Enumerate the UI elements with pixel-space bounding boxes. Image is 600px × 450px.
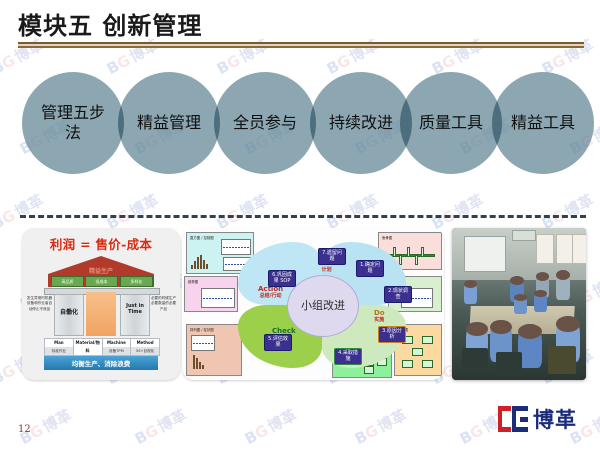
watermark-logo: BG博革 (430, 193, 486, 232)
goal-label: 多样化 (121, 277, 152, 286)
topic-circle-5[interactable]: 质量工具 (400, 72, 502, 174)
resource-cell: Method5S+目视化 (131, 339, 159, 355)
profit-equation: 利润 = 售价-成本 (22, 234, 180, 253)
watermark-logo: BG博革 (215, 193, 271, 232)
tool-thumb-label: 排列图 / 柱状图 (190, 328, 214, 333)
tool-thumb-label: 直方图 / 控制图 (190, 236, 214, 241)
goal-box-1: 高品质 (51, 276, 84, 287)
line-chart-glyph (191, 335, 215, 351)
logo-text: 博革 (533, 404, 577, 434)
topic-circle-row: 管理五步法 精益管理 全员参与 持续改进 质量工具 精益工具 (0, 72, 600, 182)
pdca-step-3[interactable]: 3.原因分析 (378, 326, 406, 343)
watermark-logo: BG博革 (105, 193, 161, 232)
step-label: 采取措施 (343, 350, 358, 362)
logo-red-bar (498, 406, 511, 432)
do-en: Do (374, 309, 385, 317)
step-label: 评估效果 (273, 336, 288, 348)
resource-row: Man标准作业 Material/物料KANBAN Machine设备TPM M… (44, 338, 160, 356)
pdca-step-1[interactable]: 1.确定问题 (356, 260, 384, 277)
photo-person (534, 290, 547, 312)
watermark-logo: BG博革 (243, 408, 299, 447)
meeting-photo (452, 228, 586, 380)
tool-thumb-trend: 趋势图 (184, 276, 238, 312)
topic-circle-label: 精益管理 (132, 113, 206, 133)
section-divider (20, 215, 586, 218)
pdca-panel[interactable]: 直方图 / 控制图 趋势图 排列图 / 柱状图 鱼骨图 (182, 228, 444, 380)
topic-circle-label: 全员参与 (228, 113, 302, 133)
resource-cn: 标准作业 (45, 347, 73, 355)
topic-circle-label: 质量工具 (414, 113, 488, 133)
pdca-hub: 小组改进 (287, 275, 359, 337)
photo-air-conditioner (512, 230, 536, 241)
topic-circle-label: 管理五步法 (36, 103, 110, 143)
page-title: 模块五 创新管理 (18, 6, 202, 41)
pdca-step-5[interactable]: 5.评估效果 (264, 334, 292, 351)
resource-cell: Material/物料KANBAN (74, 339, 103, 355)
goal-box-3: 多样化 (120, 276, 153, 287)
title-rule-bottom (18, 46, 584, 48)
watermark-logo: BG博革 (540, 193, 596, 232)
foundation-label: 均衡生产、消除浪费 (72, 358, 131, 368)
resource-cell: Man标准作业 (45, 339, 74, 355)
topic-circle-label: 持续改进 (324, 113, 398, 133)
pillar-label: Just in Time (121, 303, 149, 316)
tool-thumb-label: 趋势图 (188, 280, 198, 285)
photo-chair (462, 348, 488, 374)
photo-chair (548, 346, 576, 374)
pareto-glyph (193, 355, 204, 369)
do-cn: 实施 (374, 318, 385, 324)
trend-chart-glyph (201, 288, 235, 308)
resource-en: Man (45, 339, 73, 347)
watermark-logo: BG博革 (0, 193, 46, 232)
watermark-logo: BG博革 (133, 408, 189, 447)
pillar-label: 自働化 (55, 307, 83, 316)
tool-thumb-label: 鱼骨图 (382, 236, 392, 241)
step-label: 原因分析 (387, 328, 402, 340)
resource-cell: Machine设备TPM (103, 339, 132, 355)
roof-label: 精益生产 (48, 266, 154, 275)
topic-circle-2[interactable]: 精益管理 (118, 72, 220, 174)
pdca-step-6[interactable]: 6.巩固成果 SOP (268, 270, 296, 287)
action-cn: 总结/行动 (258, 294, 283, 300)
histogram-glyph (191, 255, 208, 269)
goal-label: 低成本 (86, 277, 117, 286)
resource-en: Machine (103, 339, 131, 347)
photo-poster (572, 234, 586, 264)
step-label: 巩固成果 SOP (274, 272, 292, 284)
page-number: 12 (18, 424, 31, 435)
lean-house-panel[interactable]: 利润 = 售价-成本 精益生产 高品质 低成本 多样化 发生异常时机器设备和作业… (22, 228, 180, 380)
logo-blue-bar (512, 406, 528, 432)
brand-logo: 博革 (498, 404, 577, 434)
pillar-jidoka: 自働化 (54, 294, 84, 336)
illustration-row: 利润 = 售价-成本 精益生产 高品质 低成本 多样化 发生异常时机器设备和作业… (0, 228, 600, 384)
pdca-step-2[interactable]: 2.现状调查 (384, 286, 412, 303)
resource-en: Material/物料 (74, 339, 102, 355)
photo-person (556, 270, 570, 300)
topic-circle-3[interactable]: 全员参与 (214, 72, 316, 174)
meeting-photo-panel[interactable] (452, 228, 586, 380)
pdca-step-7[interactable]: 7.遗留问题 (318, 248, 346, 265)
topic-circle-1[interactable]: 管理五步法 (22, 72, 124, 174)
photo-whiteboard (464, 236, 506, 272)
action-label: Action 总结/行动 (258, 286, 283, 299)
pillar-jit: Just in Time (120, 294, 150, 336)
photo-person (514, 294, 527, 314)
resource-cn: 设备TPM (103, 347, 131, 355)
photo-person (464, 280, 477, 304)
slide-header: 模块五 创新管理 (0, 0, 600, 52)
topic-circle-4[interactable]: 持续改进 (310, 72, 412, 174)
resource-en: Method (131, 339, 159, 347)
topic-circle-label: 精益工具 (506, 113, 580, 133)
photo-poster (536, 234, 554, 264)
bg-logo-icon (498, 406, 528, 432)
slide-canvas: BG博革BG博革BG博革BG博革BG博革BG博革BG博革BG博革BG博革BG博革… (0, 0, 600, 450)
pdca-hub-label: 小组改进 (300, 299, 346, 312)
plan-cn: 计划 (318, 268, 335, 274)
photo-chair (496, 352, 522, 376)
jit-note: 必要的时候生产必要数量的必要产品 (150, 296, 177, 312)
resource-cn: 5S+目视化 (131, 347, 159, 355)
watermark-logo: BG博革 (353, 408, 409, 447)
goal-box-2: 低成本 (85, 276, 118, 287)
step-label: 现状调查 (393, 288, 408, 300)
pdca-wheel: 小组改进 Plan 计划 Do 实施 Check 检查 (238, 242, 406, 368)
tool-thumb-pareto: 排列图 / 柱状图 (186, 324, 242, 376)
house-foundation: 均衡生产、消除浪费 (44, 356, 158, 370)
topic-circle-6[interactable]: 精益工具 (492, 72, 594, 174)
step-label: 遗留问题 (327, 250, 342, 262)
do-label: Do 实施 (374, 310, 385, 323)
jidoka-note: 发生异常时机器设备和作业者自动停止不良品 (26, 296, 53, 312)
step-label: 确定问题 (365, 262, 380, 274)
house-core (86, 292, 116, 336)
goal-label: 高品质 (52, 277, 83, 286)
watermark-logo: BG博革 (325, 193, 381, 232)
pdca-step-4[interactable]: 4.采取措施 (334, 348, 362, 365)
